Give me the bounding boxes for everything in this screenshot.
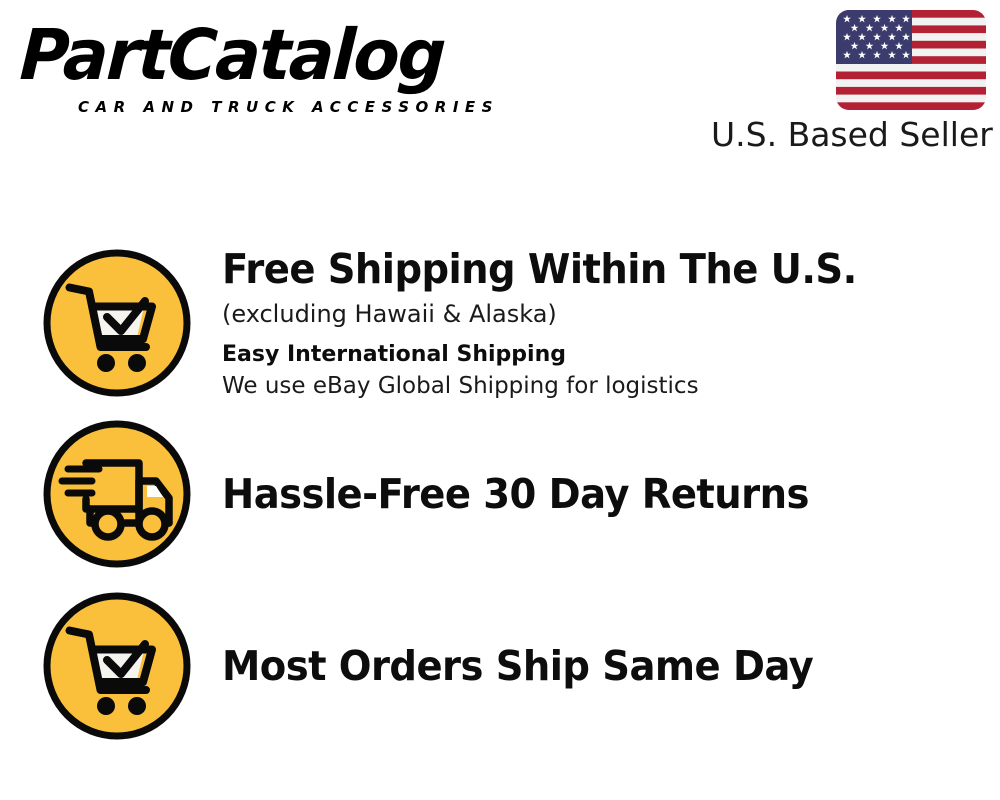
feature-heading: Free Shipping Within The U.S.	[222, 244, 935, 294]
feature-row: Free Shipping Within The U.S. (excluding…	[0, 248, 1000, 398]
us-based-seller-badge: U.S. Based Seller	[711, 10, 986, 154]
feature-text: Free Shipping Within The U.S. (excluding…	[222, 244, 1000, 402]
feature-text: Most Orders Ship Same Day	[222, 641, 1000, 691]
feature-note: (excluding Hawaii & Alaska)	[222, 298, 980, 330]
feature-heading: Most Orders Ship Same Day	[222, 641, 935, 691]
us-flag-icon	[836, 10, 986, 110]
feature-subnote: We use eBay Global Shipping for logistic…	[222, 371, 980, 402]
brand-tagline: CAR AND TRUCK ACCESSORIES	[78, 98, 499, 116]
page-header: PartCatalog CAR AND TRUCK ACCESSORIES	[0, 0, 1000, 175]
shopping-cart-check-icon	[42, 591, 192, 741]
brand-wordmark: PartCatalog	[18, 20, 473, 90]
shopping-cart-check-icon	[42, 248, 192, 398]
us-based-seller-label: U.S. Based Seller	[711, 116, 986, 154]
feature-row: Hassle-Free 30 Day Returns	[0, 420, 1000, 568]
feature-subheading: Easy International Shipping	[222, 340, 980, 370]
feature-text: Hassle-Free 30 Day Returns	[222, 469, 1000, 519]
feature-row: Most Orders Ship Same Day	[0, 592, 1000, 740]
delivery-truck-icon	[42, 419, 192, 569]
brand-logo[interactable]: PartCatalog CAR AND TRUCK ACCESSORIES	[22, 20, 492, 115]
feature-heading: Hassle-Free 30 Day Returns	[222, 469, 935, 519]
